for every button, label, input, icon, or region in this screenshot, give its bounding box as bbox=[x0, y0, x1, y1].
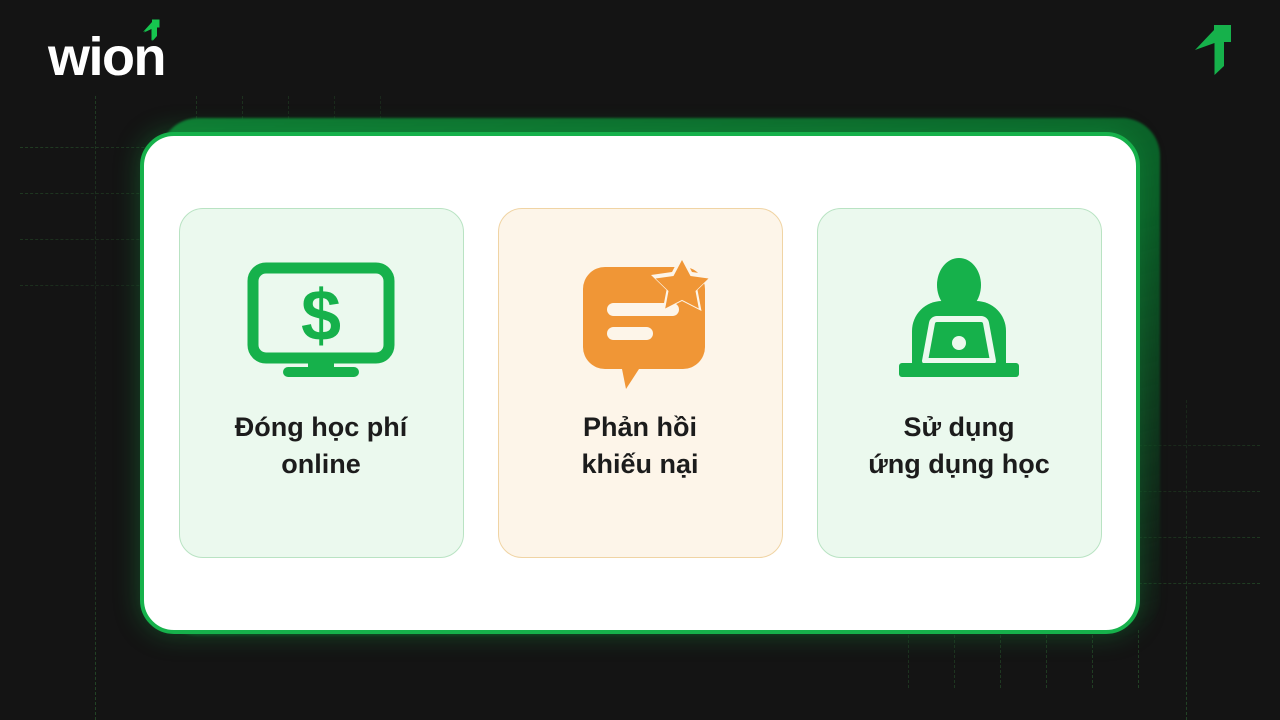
arrow-up-right-accent-icon bbox=[141, 19, 161, 41]
brand-logo: wion bbox=[48, 30, 165, 84]
person-laptop-icon bbox=[889, 261, 1029, 381]
grid-line-vertical bbox=[1046, 630, 1047, 688]
feature-card-use-learning-app[interactable]: Sử dụng ứng dụng học bbox=[817, 208, 1102, 558]
svg-text:$: $ bbox=[301, 276, 341, 356]
grid-line-vertical bbox=[1092, 630, 1093, 688]
monitor-dollar-icon: $ bbox=[246, 261, 396, 381]
feature-card-pay-tuition-online[interactable]: $ Đóng học phí online bbox=[179, 208, 464, 558]
feature-card-label: Đóng học phí online bbox=[221, 409, 421, 484]
feature-card-label: Phản hồi khiếu nại bbox=[567, 409, 712, 484]
grid-line-vertical bbox=[954, 630, 955, 688]
grid-line-vertical bbox=[1000, 630, 1001, 688]
feature-card-label: Sử dụng ứng dụng học bbox=[854, 409, 1064, 484]
chat-bubble-star-icon bbox=[565, 261, 715, 381]
grid-line-vertical bbox=[1138, 630, 1139, 688]
grid-line-vertical bbox=[908, 630, 909, 688]
feature-card-feedback-complaint[interactable]: Phản hồi khiếu nại bbox=[498, 208, 783, 558]
feature-panel: $ Đóng học phí online Phản hồi khiếu nại bbox=[140, 132, 1140, 634]
arrow-up-right-mark-icon bbox=[1194, 24, 1232, 76]
grid-line-vertical bbox=[1186, 400, 1187, 720]
grid-line-vertical bbox=[95, 96, 96, 720]
